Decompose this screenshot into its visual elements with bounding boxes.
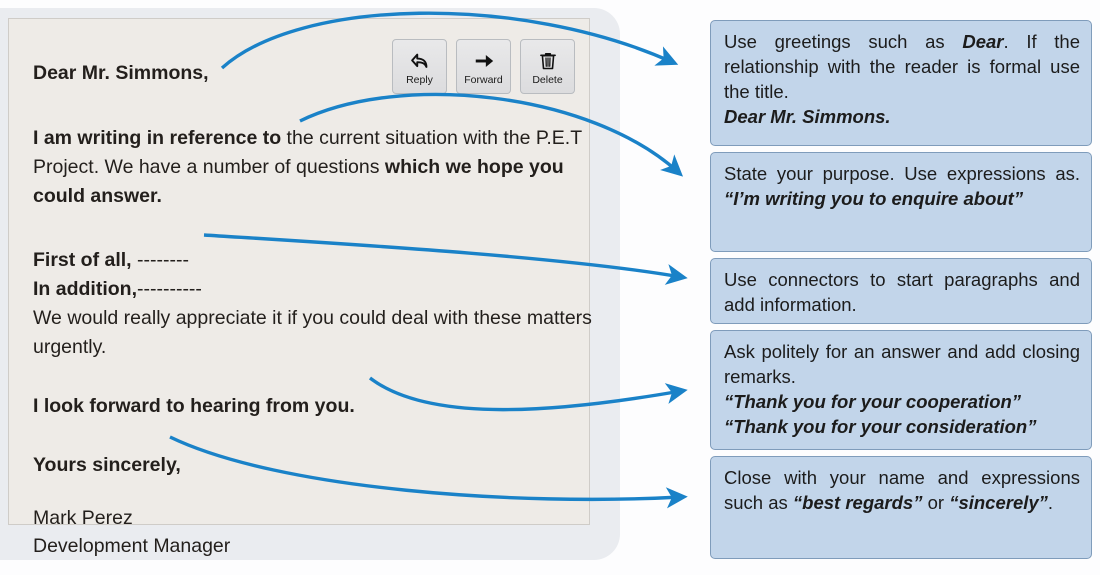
note4-example-1: “Thank you for your cooperation” xyxy=(724,390,1080,415)
note-closing-text: Ask politely for an answer and add closi… xyxy=(724,340,1080,390)
note1-lead: Use greetings such as xyxy=(724,31,962,52)
email-paragraph-1: I am writing in reference to the current… xyxy=(33,124,593,211)
sender-title: Development Manager xyxy=(33,532,593,561)
email-signoff: Yours sincerely, xyxy=(33,451,593,480)
email-client-frame: Reply Forward xyxy=(0,8,620,560)
note-connectors: Use connectors to start paragraphs and a… xyxy=(710,258,1092,324)
slide-canvas: Reply Forward xyxy=(0,0,1100,575)
email-closing-request: I look forward to hearing from you. xyxy=(33,392,593,421)
p1-bold-opening: I am writing in reference to xyxy=(33,127,281,149)
note5-tail: . xyxy=(1048,492,1053,513)
note-greeting: Use greetings such as Dear. If the relat… xyxy=(710,20,1092,146)
body-spacer-3 xyxy=(33,362,593,392)
sender-name: Mark Perez xyxy=(33,504,593,533)
email-connector-2: In addition,---------- xyxy=(33,275,593,304)
connector-1-bold: First of all, xyxy=(33,249,132,271)
email-body-text: Dear Mr. Simmons, I am writing in refere… xyxy=(33,59,593,561)
body-spacer-5 xyxy=(33,480,593,504)
note1-emphasis: Dear xyxy=(962,31,1003,52)
connector-2-bold: In addition, xyxy=(33,278,137,300)
connector-1-dashes: -------- xyxy=(132,249,189,271)
note1-example: Dear Mr. Simmons. xyxy=(724,105,1080,130)
note-purpose: State your purpose. Use expressions as. … xyxy=(710,152,1092,252)
email-paragraph-2: We would really appreciate it if you cou… xyxy=(33,304,593,362)
note-signoff-text: Close with your name and expressions suc… xyxy=(724,466,1080,516)
note5-emphasis-2: “sincerely” xyxy=(949,492,1048,513)
note4-example-2: “Thank you for your consideration” xyxy=(724,415,1080,440)
note5-mid: or xyxy=(922,492,949,513)
body-spacer-4 xyxy=(33,421,593,451)
note5-emphasis-1: “best regards” xyxy=(793,492,923,513)
email-connector-1: First of all, -------- xyxy=(33,246,593,275)
note2-lead: State your purpose. Use expressions as. xyxy=(724,163,1080,184)
note-greeting-text: Use greetings such as Dear. If the relat… xyxy=(724,30,1080,105)
closing-request-text: I look forward to hearing from you. xyxy=(33,395,355,417)
signoff-text: Yours sincerely, xyxy=(33,454,181,476)
connector-2-dashes: ---------- xyxy=(137,278,202,300)
note-signoff: Close with your name and expressions suc… xyxy=(710,456,1092,559)
email-message-panel: Reply Forward xyxy=(8,18,590,525)
note-connectors-text: Use connectors to start paragraphs and a… xyxy=(724,268,1080,318)
body-spacer-1 xyxy=(33,108,593,124)
note-purpose-text: State your purpose. Use expressions as. … xyxy=(724,162,1080,212)
note-closing-remarks: Ask politely for an answer and add closi… xyxy=(710,330,1092,450)
greeting-text: Dear Mr. Simmons, xyxy=(33,62,209,84)
email-greeting: Dear Mr. Simmons, xyxy=(33,59,593,88)
body-spacer-2 xyxy=(33,230,593,246)
note2-example: “I’m writing you to enquire about” xyxy=(724,188,1023,209)
